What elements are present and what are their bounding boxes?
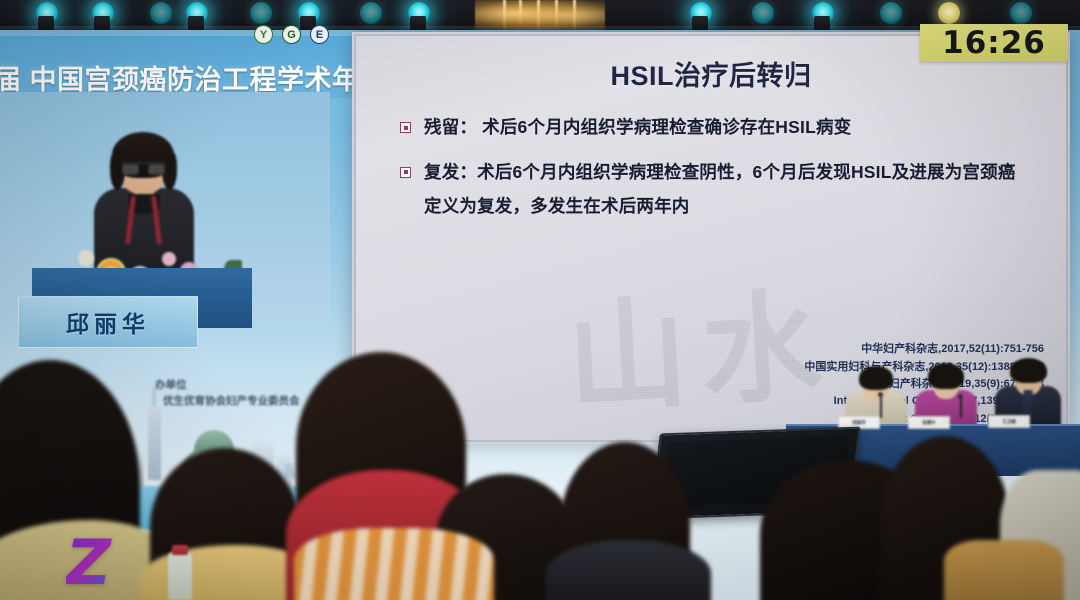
glasses-icon [122, 162, 165, 173]
slide-references: 中华妇产科杂志,2017,52(11):751-756 中国实用妇科与产科杂志,… [644, 341, 1044, 428]
microphone-head [878, 392, 883, 397]
broadcast-clock: 16:26 [920, 24, 1068, 62]
panelist-name-card: 张春叶 [908, 416, 950, 429]
organizer-logos: Y G E [254, 25, 329, 44]
reference-line: 实用妇产科杂志,2019,35(9):676-678 [644, 376, 1044, 393]
microphone [880, 396, 882, 418]
watermark-logo: Z [66, 534, 126, 592]
sponsor-line-1: 办单位 [155, 377, 187, 392]
square-bullet-icon [400, 167, 411, 178]
clock-tower [148, 406, 161, 480]
water-bottle-cap [172, 545, 188, 555]
slide-bullet-item: 残留： 术后6个月内组织学病理检查确诊存在HSIL病变 [400, 114, 1040, 141]
slide-bullet-continuation: 定义为复发，多发生在术后两年内 [424, 193, 1040, 220]
stage-light [938, 2, 960, 24]
slide-bullet-text: 复发：术后6个月内组织学病理检查阴性，6个月后发现HSIL及进展为宫颈癌 [424, 159, 1016, 186]
stage-light [1010, 2, 1032, 24]
chair-back [944, 540, 1064, 600]
microphone-head [958, 394, 963, 399]
audience-member-shoulders [546, 540, 711, 600]
stage-light [250, 2, 272, 24]
ceiling-truss [0, 0, 1080, 34]
stage-light [360, 2, 382, 24]
panelist-hair [859, 366, 893, 390]
reference-line: Int J Gynaecol Obstet, 2017,139(1):23-30 [644, 393, 1044, 410]
panelist-name-card: 王卫娟 [988, 415, 1030, 428]
clock-time: 16:26 [942, 25, 1046, 61]
reference-line: 中华妇产科杂志,2017,52(11):751-756 [644, 341, 1044, 358]
slide-bullet-item: 复发：术后6个月内组织学病理检查阴性，6个月后发现HSIL及进展为宫颈癌 [400, 159, 1040, 186]
panelist-hair [1010, 358, 1047, 383]
tower-spire [152, 388, 156, 408]
stage-light [150, 2, 172, 24]
reference-line: 中国实用妇科与产科杂志,2019,35(12):1388-1392 [644, 359, 1044, 376]
audience-member-striped-shirt [294, 528, 494, 600]
slide-bullet-text: 残留： 术后6个月内组织学病理检查确诊存在HSIL病变 [424, 114, 851, 141]
speaker-nameplate: 邱丽华 [18, 296, 198, 348]
square-bullet-icon [400, 122, 411, 133]
conference-photo-scene: Y G E 届 中国宫颈癌防治工程学术年会 邱丽 [0, 0, 1080, 600]
water-bottle [168, 552, 192, 600]
stage-light [880, 2, 902, 24]
slide-bullet-list: 残留： 术后6个月内组织学病理检查确诊存在HSIL病变 复发：术后6个月内组织学… [400, 114, 1040, 236]
speaker-name: 邱丽华 [66, 305, 150, 339]
chandelier [475, 0, 605, 34]
organizer-logo-icon: E [310, 25, 329, 44]
panelist-hair [928, 363, 964, 389]
organizer-logo-icon: G [282, 25, 301, 44]
stage-light [752, 2, 774, 24]
microphone [960, 398, 962, 418]
organizer-logo-icon: Y [254, 25, 273, 44]
